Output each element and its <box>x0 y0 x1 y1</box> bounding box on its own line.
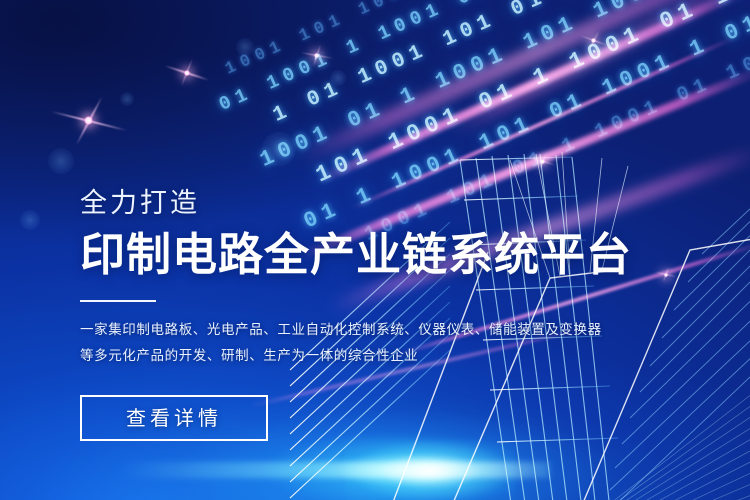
sparkle-core <box>84 116 93 125</box>
hero-eyebrow: 全力打造 <box>80 190 680 217</box>
sparkle-core <box>591 38 596 43</box>
view-details-button[interactable]: 查看详情 <box>80 395 268 441</box>
sparkle-core <box>540 159 545 164</box>
light-burst <box>345 440 515 500</box>
bokeh-dot <box>48 148 74 174</box>
sparkle-star <box>88 120 89 121</box>
sparkle-star <box>593 40 594 41</box>
sparkle-core <box>184 70 190 76</box>
hero-description-line: 等多元化产品的开发、研制、生产为一体的综合性企业 <box>80 343 680 369</box>
hero-description-line: 一家集印制电路板、光电产品、工业自动化控制系统、仪器仪表、储能装置及变换器 <box>80 317 680 343</box>
sparkle-star <box>316 55 317 56</box>
hero-banner: 1001 101 1001 01 1001 1 01 1001 101 01 1… <box>0 0 750 500</box>
sparkle-star <box>542 161 543 162</box>
hero-content: 全力打造 印制电路全产业链系统平台 一家集印制电路板、光电产品、工业自动化控制系… <box>80 190 680 441</box>
hero-description: 一家集印制电路板、光电产品、工业自动化控制系统、仪器仪表、储能装置及变换器 等多… <box>80 317 680 370</box>
bokeh-dot <box>20 210 40 230</box>
hero-headline: 印制电路全产业链系统平台 <box>80 231 680 279</box>
hero-divider <box>80 300 156 302</box>
sparkle-star <box>186 72 187 73</box>
sparkle-core <box>314 53 319 58</box>
bokeh-dot <box>120 92 134 106</box>
